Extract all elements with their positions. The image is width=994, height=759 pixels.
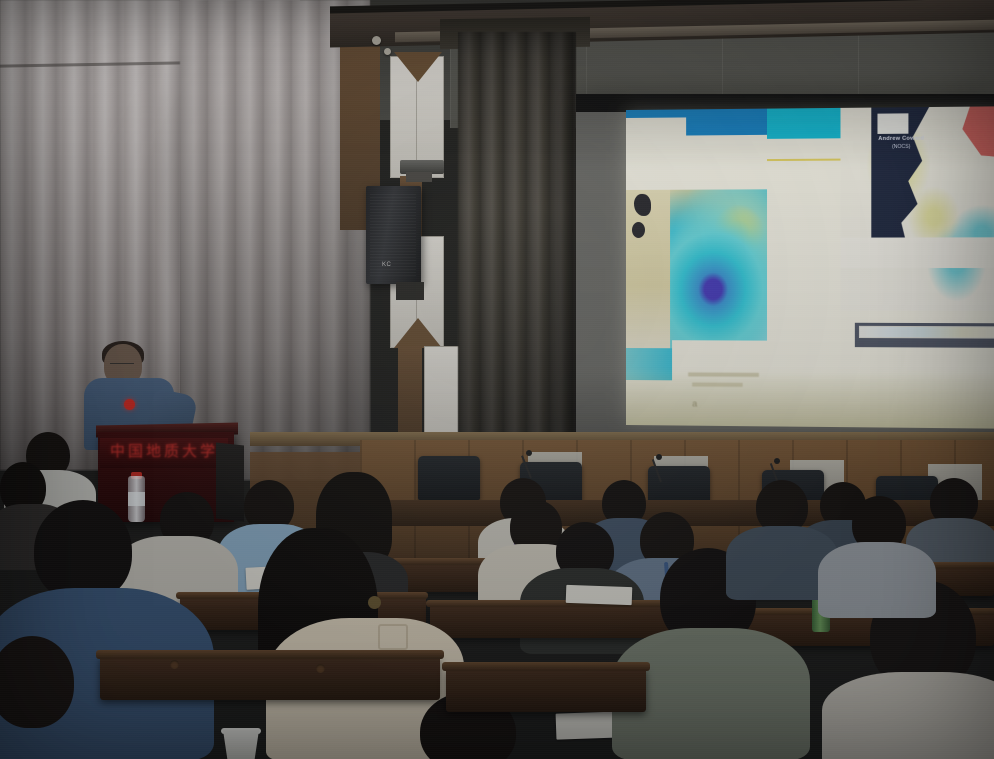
bench-row-front-center	[446, 668, 646, 712]
bench-knob-1	[170, 660, 179, 669]
bench-row-mid-center	[430, 604, 670, 638]
left-map-dark-blob-1	[634, 194, 651, 216]
wood-trim-lower	[398, 346, 422, 442]
presenter-glasses	[110, 363, 134, 369]
bench-knob-2	[316, 664, 325, 673]
slide-credit-org: (NOCS)	[875, 144, 927, 150]
ceiling-fixture-2	[384, 48, 391, 55]
wood-vee-trim-bottom	[394, 318, 442, 348]
slide-credit-name: Andrew Coward	[875, 136, 927, 143]
left-map-dark-blob-2	[632, 222, 645, 238]
lecture-hall-photo: KC Internal Waves Andrew Coward (NOCS)	[0, 0, 994, 759]
handout-sheet-3	[566, 585, 633, 605]
right-map-mask	[840, 237, 994, 268]
presenter-badge	[124, 399, 135, 410]
wall-panel-e	[424, 346, 460, 444]
wood-vee-trim-top	[394, 52, 442, 82]
podium-side-panel	[216, 443, 244, 522]
microphone-head-3	[774, 458, 780, 464]
colorbar	[859, 326, 994, 339]
podium-institution-text: 中国地质大学	[102, 440, 226, 461]
coat-flap	[378, 624, 408, 650]
bench-top-mid-center	[426, 600, 672, 607]
projected-slide: Internal Waves Andrew Coward (NOCS) a	[626, 106, 994, 428]
bench-top-front-center	[442, 662, 650, 671]
bench-top-front-left	[96, 650, 444, 659]
paper-cup	[223, 730, 259, 759]
coat-button	[368, 596, 381, 609]
bench-row-front-left	[100, 656, 440, 700]
front-chair-1	[418, 456, 480, 500]
torso	[818, 542, 936, 618]
microphone-head-2	[656, 454, 662, 460]
dark-curtain-shading	[458, 32, 576, 472]
water-bottle-label	[128, 492, 145, 506]
head	[34, 500, 132, 602]
slide-bottom-glow	[626, 367, 994, 429]
inset-white-box	[877, 113, 908, 134]
microphone-head-1	[526, 450, 532, 456]
speaker-brand-label: KC	[382, 262, 398, 269]
slide-banner-notch-lower	[626, 135, 767, 162]
torso	[822, 672, 994, 759]
speaker-base	[396, 282, 424, 300]
ceiling-fixture-1	[372, 36, 381, 45]
speaker-mount-post	[406, 172, 432, 182]
